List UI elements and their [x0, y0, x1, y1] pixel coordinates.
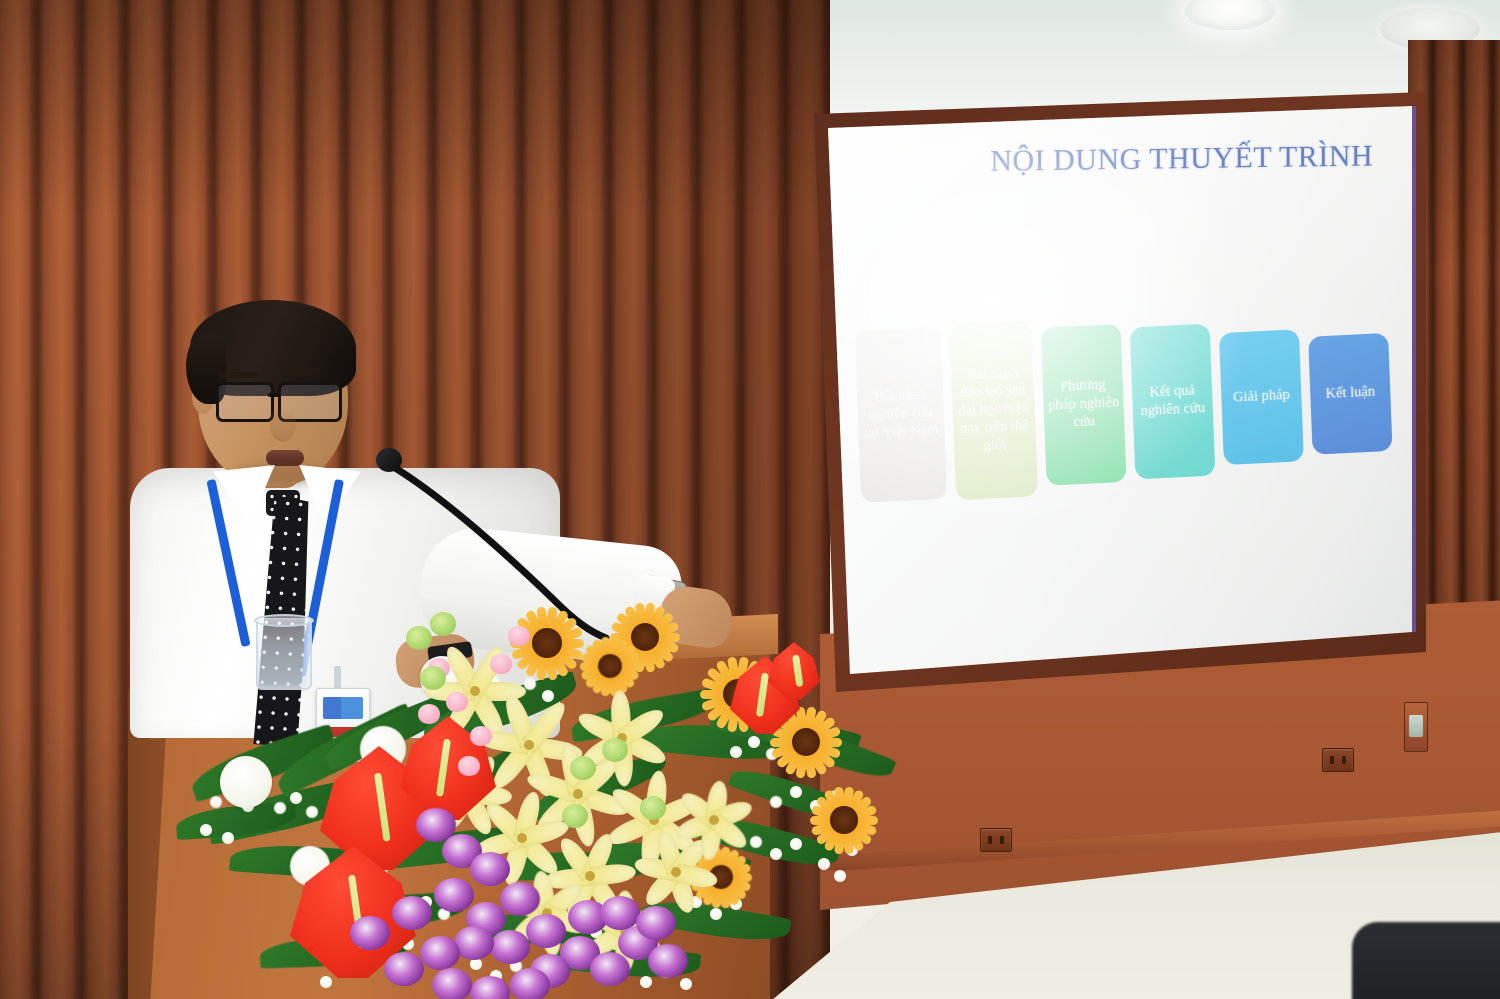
gypsophila-bud-22: [790, 786, 802, 798]
orchid-flower-7: [526, 914, 566, 948]
green-bud-1: [406, 626, 432, 650]
orchid-flower-22: [600, 896, 640, 930]
wall-outlet-1: [980, 828, 1012, 852]
gypsophila-bud-50: [680, 978, 692, 990]
orchid-flower-24: [350, 916, 390, 950]
gypsophila-bud-1: [210, 796, 222, 808]
lily-stamen: [709, 815, 719, 825]
slide-box-6: Kết luận: [1308, 333, 1392, 455]
pink-bud-2: [446, 692, 468, 712]
slide-box-label-2: Bối cảnh đào tạo sau đại học hiện nay tr…: [955, 364, 1032, 456]
gypsophila-bud-15: [730, 746, 742, 758]
green-bud-6: [420, 666, 446, 690]
green-bud-5: [640, 796, 666, 820]
slide-box-4: Kết quả nghiên cứu: [1130, 324, 1216, 480]
orchid-flower-20: [470, 976, 510, 999]
orchid-flower-8: [490, 930, 530, 964]
gypsophila-bud-39: [320, 976, 332, 988]
green-bud-3: [570, 756, 596, 780]
slide-box-label-5: Giải pháp: [1233, 387, 1290, 407]
lily-stamen: [517, 833, 527, 843]
orchid-flower-4: [434, 878, 474, 912]
gypsophila-bud-26: [770, 848, 782, 860]
gypsophila-bud-44: [834, 870, 846, 882]
speaker-eyebrow-right: [280, 368, 320, 374]
sunflower-center: [830, 806, 857, 833]
lily-flower-12: [670, 776, 758, 864]
gypsophila-bud-48: [640, 976, 652, 988]
orchid-flower-14: [392, 896, 432, 930]
orchid-flower-6: [500, 882, 540, 916]
gypsophila-bud-27: [790, 838, 802, 850]
green-bud-7: [562, 804, 588, 828]
gypsophila-bud-8: [290, 792, 302, 804]
microphone-head-icon: [376, 448, 402, 472]
gypsophila-bud-9: [306, 806, 318, 818]
slide-box-label-3: Phương pháp nghiên cứu: [1047, 377, 1121, 434]
gypsophila-bud-6: [200, 824, 212, 836]
white-bloom-1: [220, 756, 272, 808]
orchid-flower-19: [510, 968, 550, 999]
sunflower-center: [532, 628, 562, 658]
pink-bud-3: [470, 726, 492, 746]
slide-box-1: Bối cảnh nghiên cứu tại Việt Nam: [855, 327, 948, 503]
orchid-flower-3: [470, 852, 510, 886]
gypsophila-bud-5: [274, 802, 286, 814]
wall-outlet-2: [1322, 748, 1354, 772]
slide-box-3: Phương pháp nghiên cứu: [1041, 324, 1127, 486]
sunflower-5: [810, 786, 878, 854]
pink-bud-6: [458, 756, 480, 776]
lily-stamen: [573, 789, 583, 799]
gypsophila-bud-43: [818, 858, 830, 870]
orchid-flower-23: [636, 906, 676, 940]
flower-arrangement: [170, 596, 890, 999]
orchid-flower-17: [384, 952, 424, 986]
gypsophila-bud-21: [770, 796, 782, 808]
pink-bud-4: [418, 704, 440, 724]
wall-switch-panel: [1404, 702, 1428, 752]
slide-box-2: Bối cảnh đào tạo sau đại học hiện nay tr…: [949, 320, 1038, 500]
orchid-flower-16: [648, 944, 688, 978]
sunflower-center: [598, 654, 622, 678]
slide-box-label-1: Bối cảnh nghiên cứu tại Việt Nam: [861, 386, 941, 443]
lily-stamen: [671, 867, 681, 877]
slide-box-label-6: Kết luận: [1325, 384, 1375, 404]
slide-title: NỘI DUNG THUYẾT TRÌNH: [990, 139, 1410, 179]
presentation-photo-scene: NỘI DUNG THUYẾT TRÌNH Bối cảnh nghiên cứ…: [0, 0, 1500, 999]
green-bud-4: [602, 738, 628, 762]
gypsophila-bud-16: [748, 736, 760, 748]
orchid-flower-21: [432, 968, 472, 999]
orchid-flower-11: [590, 952, 630, 986]
orchid-flower-13: [420, 936, 460, 970]
slide-content-boxes: Bối cảnh nghiên cứu tại Việt NamBối cảnh…: [855, 302, 1421, 509]
pink-bud-7: [508, 626, 530, 646]
slide-box-5: Giải pháp: [1219, 329, 1304, 465]
glasses-lens-left: [216, 382, 274, 422]
green-bud-2: [430, 612, 456, 636]
presentation-slide: NỘI DUNG THUYẾT TRÌNH Bối cảnh nghiên cứ…: [828, 80, 1428, 648]
orchid-flower-9: [454, 926, 494, 960]
gypsophila-bud-7: [222, 832, 234, 844]
speaker-eyebrow-left: [218, 372, 258, 378]
slide-box-label-4: Kết quả nghiên cứu: [1136, 382, 1209, 421]
pink-bud-5: [490, 654, 512, 674]
chair-back: [1352, 922, 1500, 999]
